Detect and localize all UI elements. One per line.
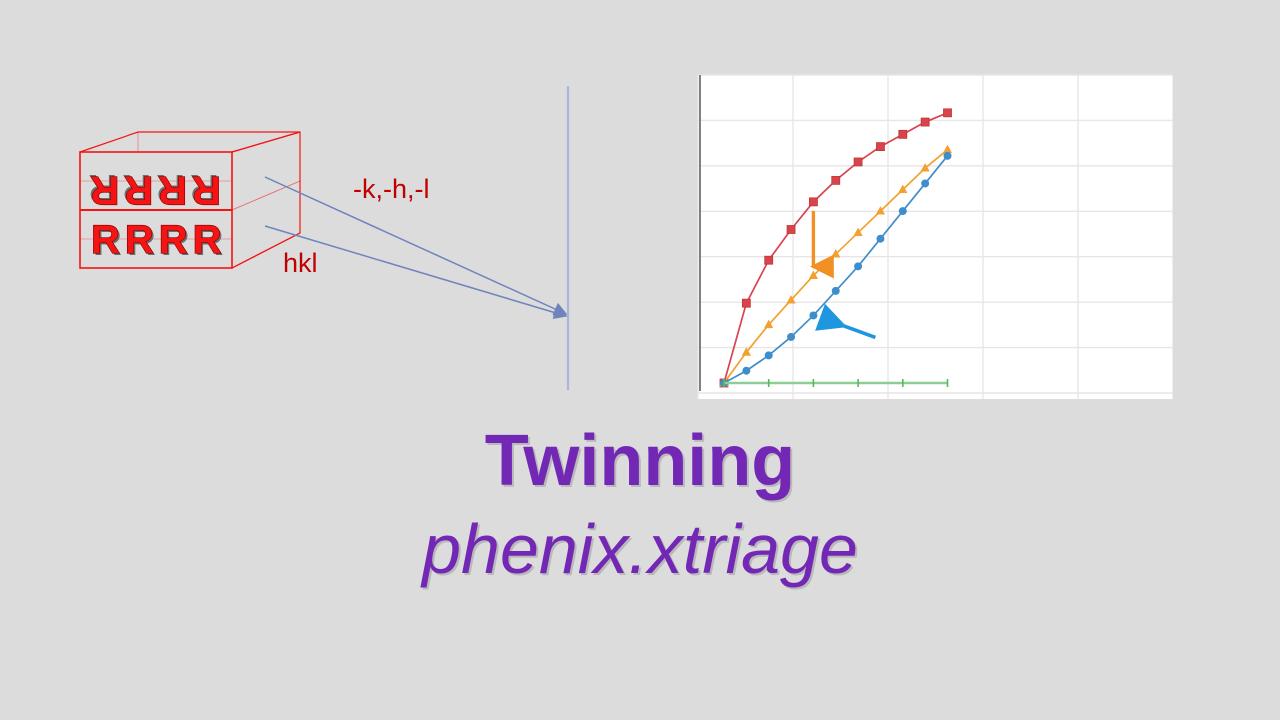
data-point-marker (899, 207, 907, 215)
data-point-marker (809, 311, 817, 319)
data-point-marker (765, 256, 773, 264)
domain-top-letters: RRRR (85, 168, 221, 212)
data-point-marker (787, 226, 795, 234)
data-point-marker (742, 367, 750, 375)
data-point-marker (832, 287, 840, 295)
domain-letters-top: RRRR RRRR (83, 166, 221, 212)
twin-boundary-right (232, 181, 300, 210)
title-block: Twinning phenix.xtriage (0, 425, 1280, 588)
data-point-marker (832, 176, 840, 184)
data-point-marker (944, 152, 952, 160)
data-point-marker (944, 109, 952, 117)
page-title: Twinning (0, 425, 1280, 497)
label-hkl: hkl (283, 248, 318, 279)
data-point-marker (876, 143, 884, 151)
data-point-marker (854, 262, 862, 270)
data-point-marker (921, 118, 929, 126)
data-point-marker (809, 198, 817, 206)
cumulative-intensity-chart (692, 69, 1173, 399)
slide-canvas: RRRR RRRR RRRR RRRR hkl -k,-h,-l (0, 0, 1280, 720)
data-point-marker (876, 235, 884, 243)
domain-letters-bottom: RRRR RRRR (91, 218, 229, 264)
label-minus-k-minus-h-minus-l: -k,-h,-l (353, 174, 430, 205)
plot-background (698, 75, 1173, 399)
data-point-marker (742, 299, 750, 307)
data-point-marker (899, 130, 907, 138)
data-point-marker (765, 351, 773, 359)
data-point-marker (921, 179, 929, 187)
data-point-marker (787, 333, 795, 341)
data-point-marker (854, 158, 862, 166)
page-subtitle: phenix.xtriage (0, 511, 1280, 588)
domain-bottom-letters: RRRR (91, 218, 227, 262)
